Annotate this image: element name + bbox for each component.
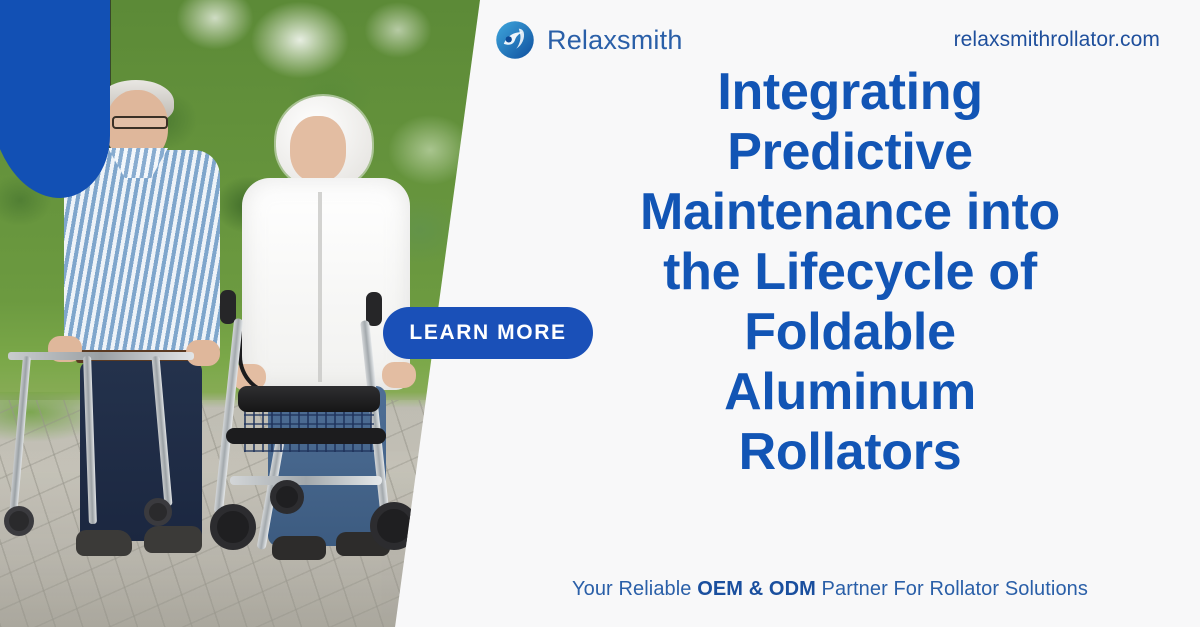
brand-lockup[interactable]: Relaxsmith [495,20,683,60]
rollator-wheel [370,502,418,550]
headline-line: Rollators [739,423,962,481]
headline-line: Integrating [717,63,982,121]
tagline-prefix: Your Reliable [572,578,697,600]
headline-line: the Lifecycle of [663,243,1037,301]
brand-name: Relaxsmith [547,25,683,56]
walker-wheel [4,506,34,536]
walker-leg [83,356,97,524]
rollator-wheel [210,504,256,550]
rollator-backrest [226,428,386,444]
walker-leg [9,356,31,516]
rollator-wheel [270,480,304,514]
headline-line: Foldable [744,303,955,361]
marketing-banner: Relaxsmith relaxsmithrollator.com Integr… [0,0,1200,627]
learn-more-button[interactable]: LEARN MORE [383,307,593,359]
page-title: Integrating Predictive Maintenance into … [545,62,1155,482]
walker-leg [151,356,172,506]
site-url[interactable]: relaxsmithrollator.com [954,28,1160,52]
relaxsmith-logo-icon [495,20,535,60]
tagline-suffix: Partner For Rollator Solutions [816,578,1088,600]
tagline-emphasis: OEM & ODM [697,578,816,600]
headline-line: Aluminum [724,363,976,421]
walker-wheel [144,498,172,526]
rollator-seat [238,386,380,412]
headline-line: Predictive [727,123,973,181]
rollator-cross-tube [230,476,382,485]
walking-frame [8,330,198,580]
rollator-handle [220,290,236,324]
eyeglasses-icon [112,116,168,129]
corner-accent-shape [0,0,110,198]
headline-line: Maintenance into [640,183,1060,241]
walker-top-bar [8,352,194,360]
woman-head [290,116,346,182]
tagline: Your Reliable OEM & ODM Partner For Roll… [500,578,1160,601]
